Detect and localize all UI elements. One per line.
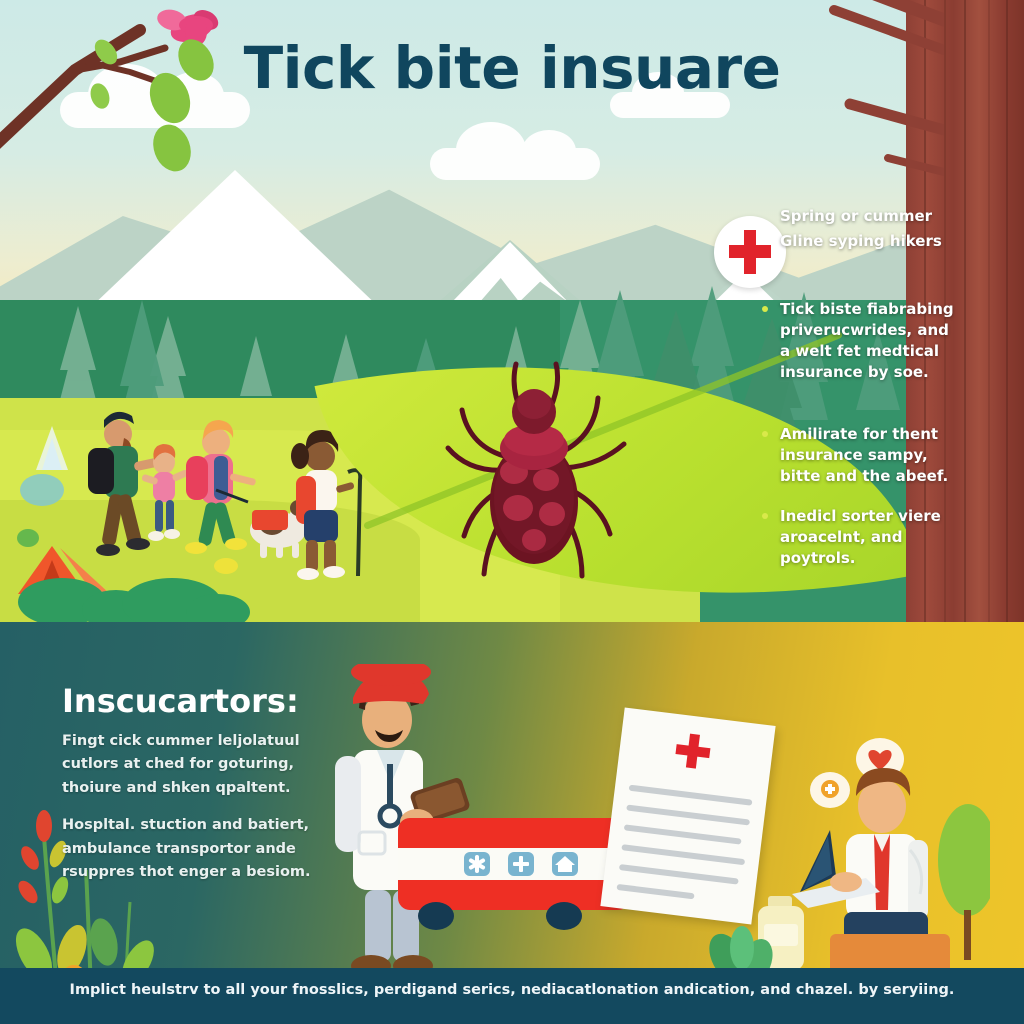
bullet-text: Tick biste fiabrabing priverucwrides, an… [780,300,954,382]
plus-icon [508,852,534,876]
ambulance-wheel [418,902,454,930]
hiker-woman-backpack [185,420,256,554]
hiker-child [141,444,189,541]
bottom-section: Inscucartors: Fingt cick cummer leljolat… [0,622,1024,1024]
bullet-dot-icon [762,513,768,519]
top-bullet-list: Spring or cummer Gline syping hikers Tic… [762,206,958,596]
bullet-dot-icon [762,431,768,437]
list-item: Spring or cummer [762,206,958,227]
footer-bar: Implict heulstrv to all your fnosslics, … [0,968,1024,1024]
ambulance-wheel [546,902,582,930]
list-item: Amilirate for thent insurance sampy, bit… [762,424,958,488]
infographic-poster: Spring or cummer Gline syping hikers Tic… [0,0,1024,1024]
bullet-text: Spring or cummer [780,207,932,225]
page-title: Tick bite insuare [0,34,1024,102]
list-item: Gline syping hikers [762,231,958,252]
list-item: Tick biste fiabrabing priverucwrides, an… [762,299,958,384]
red-cross-icon [674,732,712,770]
bottom-paragraph: Hospltal. stuction and batiert, ambulanc… [62,814,312,884]
bottom-body-text: Fingt cick cummer leljolatuul cutlors at… [62,730,312,899]
ambulance-icon [398,818,630,926]
bottom-heading: Inscucartors: [62,682,299,720]
bullet-text: Inedicl sorter viere aroacelnt, and poyt… [780,507,941,568]
bullet-text: Amilirate for thent insurance sampy, bit… [780,425,948,486]
home-icon [552,852,578,876]
list-item: Inedicl sorter viere aroacelnt, and poyt… [762,506,958,570]
hiker-man-backpack [88,412,159,556]
star-of-life-icon [464,852,490,876]
bullet-dot-icon [762,306,768,312]
tick-icon [430,352,690,602]
footer-text: Implict heulstrv to all your fnosslics, … [0,982,1024,998]
bottom-paragraph: Fingt cick cummer leljolatuul cutlors at… [62,730,312,800]
bullet-text: Gline syping hikers [780,232,942,250]
